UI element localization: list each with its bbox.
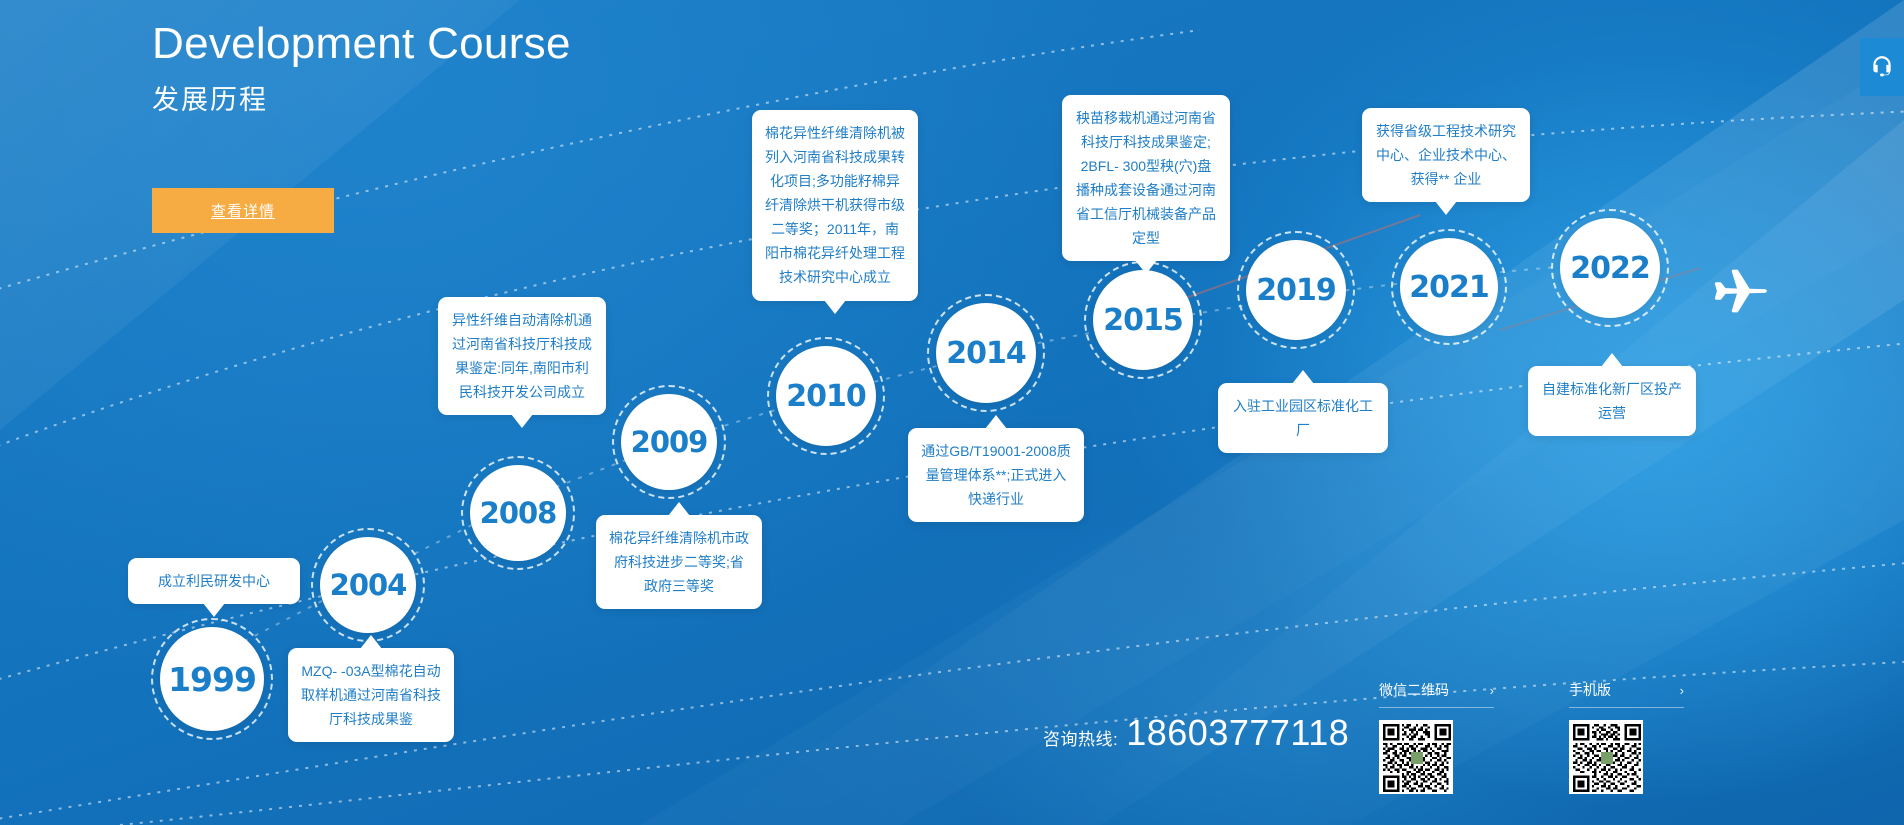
timeline-year-label: 2008 [480, 496, 557, 530]
page-title-cn: 发展历程 [152, 78, 571, 117]
timeline-card-text: 获得省级工程技术研究中心、企业技术中心、获得** 企业 [1376, 123, 1516, 187]
card-pointer-icon [1292, 370, 1314, 384]
card-pointer-icon [1435, 201, 1457, 215]
card-pointer-icon [668, 502, 690, 516]
customer-service-button[interactable] [1860, 38, 1904, 96]
timeline-card-2022: 自建标准化新厂区投产运营 [1528, 366, 1696, 436]
timeline-year-circle-1999[interactable]: 1999 [160, 627, 264, 731]
qr-block-mobile[interactable]: 手机版 › [1569, 680, 1684, 794]
timeline-card-text: 异性纤维自动清除机通过河南省科技厅科技成果鉴定:同年,南阳市利民科技开发公司成立 [452, 312, 592, 400]
hotline-number: 18603777118 [1126, 712, 1349, 754]
timeline-year-circle-2019[interactable]: 2019 [1246, 240, 1346, 340]
timeline-card-text: 成立利民研发中心 [158, 573, 270, 589]
timeline-card-text: 通过GB/T19001-2008质量管理体系**;正式进入快递行业 [921, 443, 1070, 507]
hotline: 咨询热线: 18603777118 [1043, 712, 1349, 754]
view-details-label: 查看详情 [211, 200, 275, 221]
timeline-card-2021: 获得省级工程技术研究中心、企业技术中心、获得** 企业 [1362, 108, 1530, 202]
timeline-year-label: 2010 [786, 379, 866, 414]
timeline-year-label: 2022 [1570, 251, 1650, 286]
timeline-card-2009: 棉花异纤维清除机市政府科技进步二等奖;省政府三等奖 [596, 515, 762, 609]
timeline-year-circle-2004[interactable]: 2004 [320, 537, 416, 633]
qr-header-wechat[interactable]: 微信二维码 › [1379, 680, 1494, 708]
timeline-card-2004: MZQ- -03A型棉花自动取样机通过河南省科技厅科技成果鉴 [288, 648, 454, 742]
qr-block-wechat[interactable]: 微信二维码 › [1379, 680, 1494, 794]
timeline-year-circle-2021[interactable]: 2021 [1400, 238, 1498, 336]
timeline-year-label: 2015 [1103, 303, 1183, 338]
timeline-year-label: 1999 [168, 660, 256, 699]
timeline-card-text: MZQ- -03A型棉花自动取样机通过河南省科技厅科技成果鉴 [301, 663, 441, 727]
card-pointer-icon [1601, 353, 1623, 367]
qr-code-image-mobile [1569, 720, 1643, 794]
headset-icon [1869, 54, 1895, 80]
timeline-year-circle-2022[interactable]: 2022 [1560, 218, 1660, 318]
timeline-year-circle-2014[interactable]: 2014 [936, 303, 1036, 403]
timeline-card-2019: 入驻工业园区标准化工厂 [1218, 383, 1388, 453]
chevron-right-icon: › [1680, 683, 1684, 698]
timeline-card-text: 棉花异性纤维清除机被列入河南省科技成果转化项目;多功能籽棉异纤清除烘干机获得市级… [765, 125, 905, 285]
chevron-right-icon: › [1490, 683, 1494, 698]
card-pointer-icon [511, 414, 533, 428]
page-header: Development Course 发展历程 [152, 18, 571, 117]
qr-label: 微信二维码 [1379, 680, 1449, 700]
timeline-card-2015: 秧苗移栽机通过河南省科技厅科技成果鉴定; 2BFL- 300型秧(穴)盘播种成套… [1062, 95, 1230, 261]
view-details-button[interactable]: 查看详情 [152, 188, 334, 233]
card-pointer-icon [985, 415, 1007, 429]
hotline-label: 咨询热线: [1043, 725, 1118, 750]
timeline-year-label: 2004 [330, 568, 407, 602]
page-title-en: Development Course [152, 18, 571, 70]
timeline-year-label: 2019 [1256, 273, 1336, 308]
timeline-card-text: 入驻工业园区标准化工厂 [1233, 398, 1373, 438]
timeline-year-circle-2009[interactable]: 2009 [621, 394, 717, 490]
qr-header-mobile[interactable]: 手机版 › [1569, 680, 1684, 708]
timeline-card-2010: 棉花异性纤维清除机被列入河南省科技成果转化项目;多功能籽棉异纤清除烘干机获得市级… [752, 110, 918, 301]
qr-label: 手机版 [1569, 680, 1611, 700]
timeline-year-circle-2008[interactable]: 2008 [470, 465, 566, 561]
timeline-year-label: 2009 [631, 425, 708, 459]
card-pointer-icon [824, 300, 846, 314]
timeline-year-circle-2010[interactable]: 2010 [776, 346, 876, 446]
qr-code-image-wechat [1379, 720, 1453, 794]
card-pointer-icon [203, 603, 225, 617]
timeline-year-label: 2014 [946, 336, 1026, 371]
timeline-card-2014: 通过GB/T19001-2008质量管理体系**;正式进入快递行业 [908, 428, 1084, 522]
timeline-card-2008: 异性纤维自动清除机通过河南省科技厅科技成果鉴定:同年,南阳市利民科技开发公司成立 [438, 297, 606, 415]
timeline-card-text: 自建标准化新厂区投产运营 [1542, 381, 1682, 421]
airplane-icon [1713, 268, 1769, 319]
timeline-card-text: 秧苗移栽机通过河南省科技厅科技成果鉴定; 2BFL- 300型秧(穴)盘播种成套… [1076, 110, 1216, 246]
timeline-year-label: 2021 [1409, 270, 1489, 305]
timeline-card-1999: 成立利民研发中心 [128, 558, 300, 604]
card-pointer-icon [360, 635, 382, 649]
timeline-year-circle-2015[interactable]: 2015 [1093, 270, 1193, 370]
timeline-card-text: 棉花异纤维清除机市政府科技进步二等奖;省政府三等奖 [609, 530, 749, 594]
development-course-page: Development Course 发展历程 查看详情 成立利民研发中心 19… [0, 0, 1904, 825]
